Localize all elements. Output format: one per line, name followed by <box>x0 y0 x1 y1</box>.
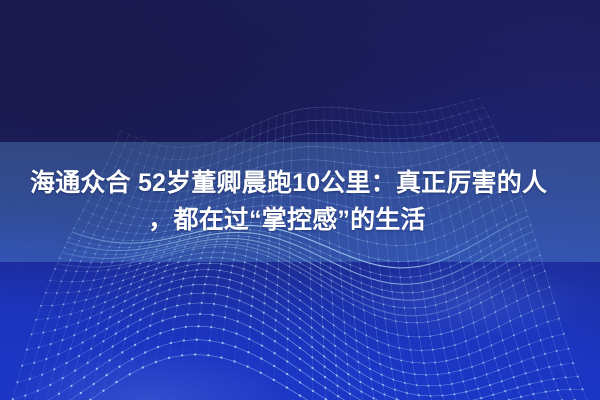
headline-line-2: ，都在过“掌控感”的生活 <box>30 202 572 239</box>
headline-line-1: 海通众合 52岁董卿晨跑10公里：真正厉害的人 <box>30 165 572 202</box>
headline-container: 海通众合 52岁董卿晨跑10公里：真正厉害的人 ，都在过“掌控感”的生活 <box>0 142 600 262</box>
promo-banner: 海通众合 52岁董卿晨跑10公里：真正厉害的人 ，都在过“掌控感”的生活 <box>0 0 600 400</box>
